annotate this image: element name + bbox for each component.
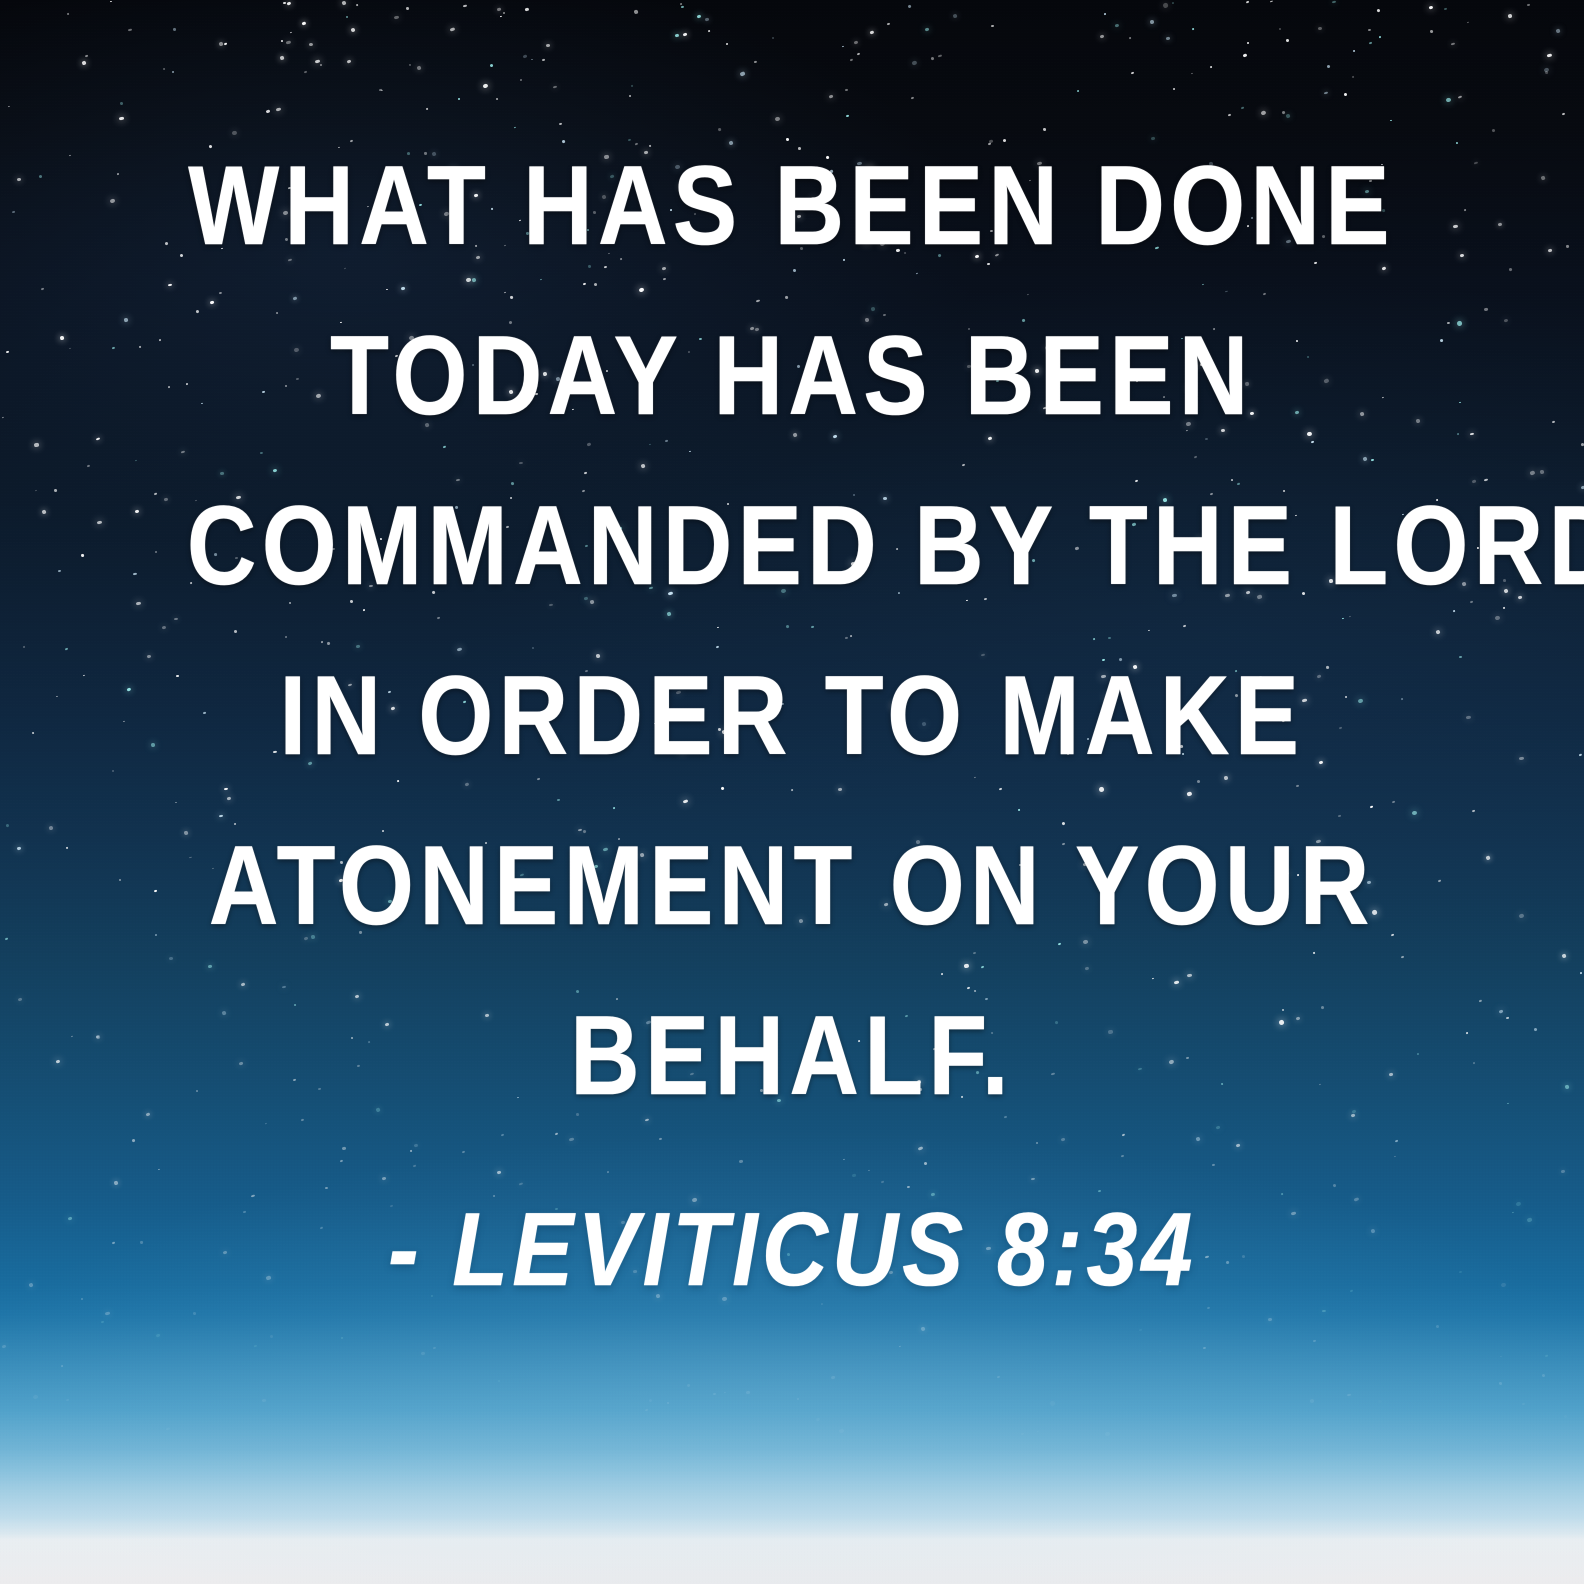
star [1138,1329,1142,1332]
horizon-glow [0,1284,1584,1584]
star [193,1311,197,1314]
star [254,1344,258,1347]
verse-line-5: ATONEMENT ON YOUR [70,830,1514,942]
star [1104,1431,1109,1436]
star [830,1375,835,1379]
star [369,1439,371,1441]
star [32,1395,38,1400]
star [898,1346,900,1348]
star [387,1446,391,1449]
star [476,1447,480,1450]
star [1268,1317,1273,1321]
star [797,1398,799,1400]
verse-line-3-text: COMMANDED BY THE LORD [187,490,1584,602]
star [433,1346,436,1349]
star [618,1433,621,1436]
star [61,1364,64,1366]
star [1435,1325,1439,1329]
star [269,1335,272,1338]
verse-attribution: - LEVITICUS 8:34 [70,1198,1514,1302]
star [104,1312,109,1316]
star [838,1429,843,1434]
star [420,1352,424,1356]
verse-line-1-text: WHAT HAS BEEN DONE [189,150,1396,262]
verse-line-6-text: BEHALF. [570,1000,1014,1112]
verse-line-3: COMMANDED BY THE LORD [70,490,1514,602]
star [1309,1399,1314,1403]
verse-line-5-text: ATONEMENT ON YOUR [209,830,1375,942]
star [920,1327,925,1331]
star [713,1393,716,1395]
verse-attribution-text: - LEVITICUS 8:34 [388,1198,1196,1302]
verse-line-4: IN ORDER TO MAKE [70,660,1514,772]
star [1377,1400,1382,1403]
star [745,1390,750,1393]
star [2,1344,7,1348]
star [340,1337,342,1339]
star [687,1384,691,1387]
star [724,1391,727,1393]
verse-text-block: WHAT HAS BEEN DONE TODAY HAS BEEN COMMAN… [0,0,1584,1302]
star [156,1333,161,1337]
star [645,1408,649,1411]
verse-line-1: WHAT HAS BEEN DONE [70,150,1514,262]
star [1499,1382,1502,1385]
star [262,1398,266,1402]
star [667,1402,669,1404]
star [1564,1415,1568,1419]
star [1522,1403,1526,1406]
star [498,1379,500,1381]
star [1207,1307,1210,1309]
star [1484,1439,1489,1443]
star [1049,1400,1055,1406]
verse-line-6: BEHALF. [70,1000,1514,1112]
star [1312,1339,1315,1342]
star [997,1375,1000,1378]
star [66,1399,69,1401]
star [1159,1351,1161,1353]
star [1203,1347,1206,1350]
star [1037,1431,1039,1433]
star [816,1418,821,1423]
star [1347,1393,1351,1396]
star [1500,1356,1502,1358]
verse-line-2-text: TODAY HAS BEEN [330,320,1253,432]
star [1545,1354,1548,1356]
star [1021,1433,1024,1436]
verse-line-4-text: IN ORDER TO MAKE [280,660,1305,772]
star [101,1321,105,1324]
verse-image-canvas: WHAT HAS BEEN DONE TODAY HAS BEEN COMMAN… [0,0,1584,1584]
star [166,1427,170,1430]
star [1321,1310,1325,1313]
star [1542,1373,1546,1377]
star [648,1399,652,1403]
verse-line-2: TODAY HAS BEEN [70,320,1514,432]
